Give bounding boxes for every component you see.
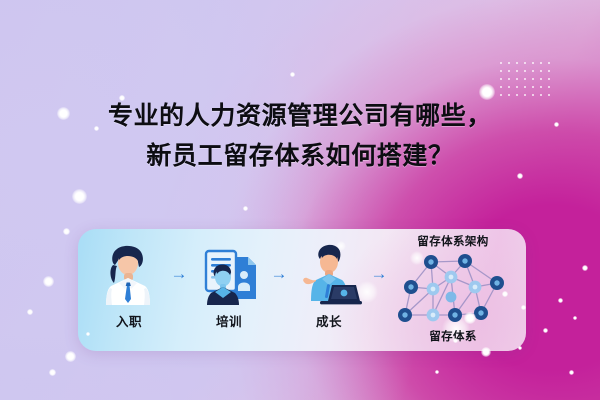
step-growth: 成长 [292, 237, 366, 330]
flow-arrow-icon: → [166, 237, 192, 309]
step-label: 培训 [216, 311, 242, 330]
network-title: 留存体系架构 [417, 233, 488, 249]
businesswoman-icon-svg [101, 241, 157, 309]
infographic-card: 入职 → [78, 229, 526, 351]
step-onboarding: 入职 [92, 237, 166, 330]
person-with-laptop-icon-svg [296, 241, 362, 309]
network-nodes [398, 254, 504, 322]
training-document-person-icon-svg [198, 241, 260, 309]
step-label: 成长 [316, 311, 342, 330]
network-caption: 留存体系 [429, 328, 477, 344]
retention-network-block: 留存体系架构 [386, 231, 520, 349]
person-with-laptop-icon [296, 237, 362, 309]
title-line-1: 专业的人力资源管理公司有哪些， [0, 96, 600, 136]
title-line-2: 新员工留存体系如何搭建？ [0, 136, 600, 176]
network-graph-icon [389, 249, 517, 327]
employee-journey-steps: 入职 → [92, 237, 392, 343]
businesswoman-icon [101, 237, 157, 309]
step-label: 入职 [116, 311, 142, 330]
flow-arrow-icon: → [266, 237, 292, 309]
poster-canvas: 专业的人力资源管理公司有哪些， 新员工留存体系如何搭建？ [0, 0, 600, 400]
training-document-person-icon [198, 237, 260, 309]
step-training: 培训 [192, 237, 266, 330]
poster-title: 专业的人力资源管理公司有哪些， 新员工留存体系如何搭建？ [0, 96, 600, 176]
